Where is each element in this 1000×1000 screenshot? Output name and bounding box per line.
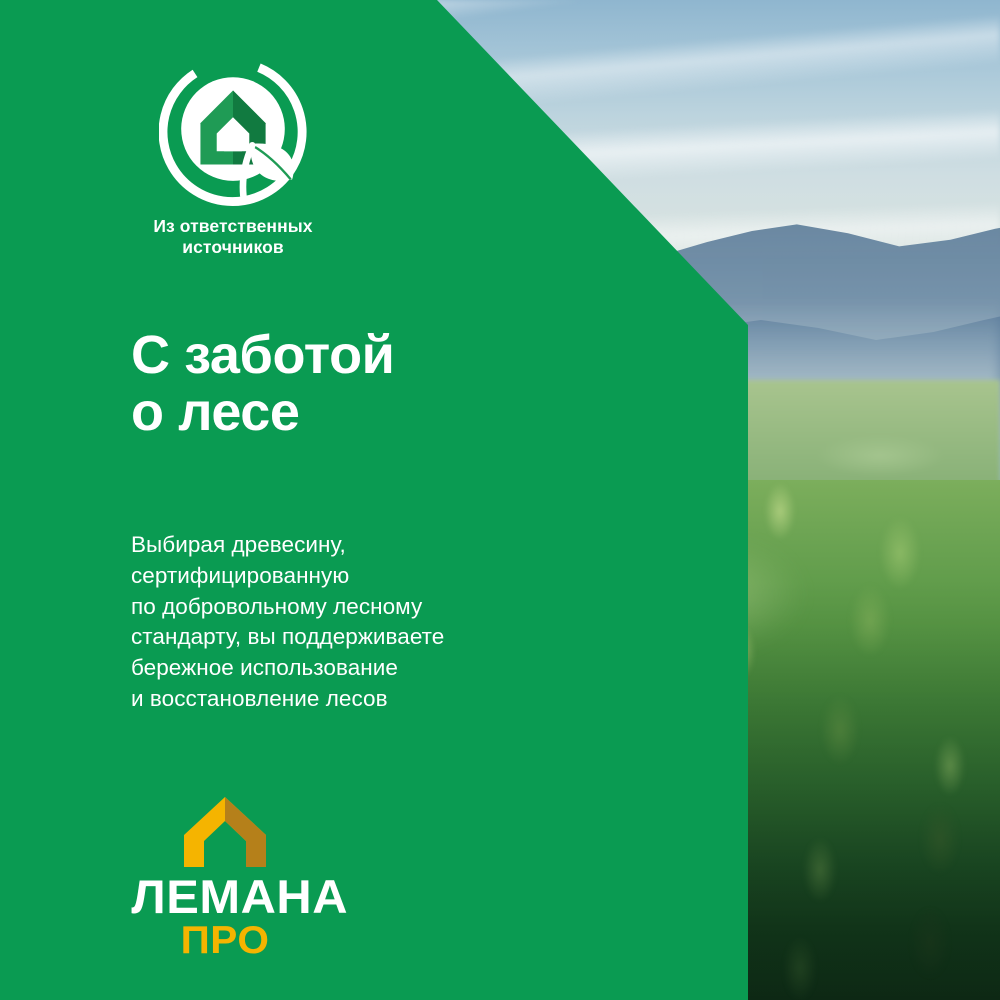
page-title: С заботой о лесе [131, 327, 394, 441]
house-leaf-circle-icon [159, 58, 307, 206]
brand-logo: ЛЕМАНА ПРО [135, 795, 315, 960]
lemana-house-icon [182, 795, 268, 869]
eco-logo-caption: Из ответственных источников [128, 216, 338, 259]
body-paragraph: Выбирая древесину, сертифицированную по … [131, 530, 444, 715]
brand-sub-label: ПРО [131, 921, 318, 960]
banner-content: Из ответственных источников С заботой о … [0, 0, 1000, 1000]
eco-promo-banner: Из ответственных источников С заботой о … [0, 0, 1000, 1000]
eco-certification-logo: Из ответственных источников [128, 58, 338, 259]
brand-name: ЛЕМАНА [131, 875, 318, 920]
